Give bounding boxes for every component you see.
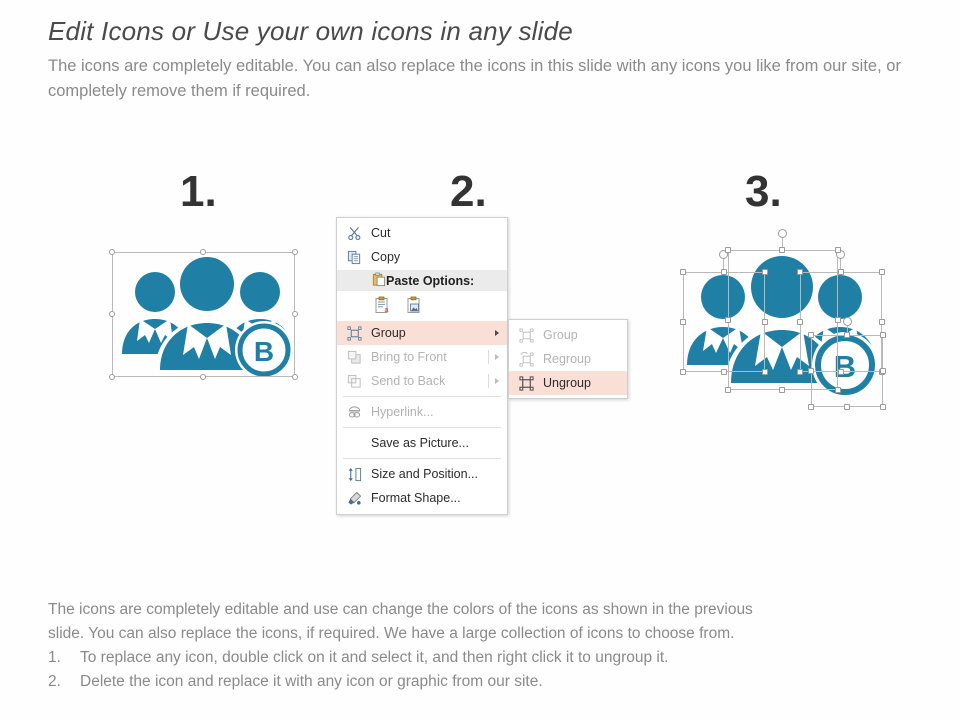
rotation-handle-badge[interactable] (843, 317, 852, 326)
menu-item-label: Send to Back (371, 374, 495, 388)
selection-handle-ne[interactable] (292, 249, 298, 255)
handle-center-e[interactable] (835, 317, 841, 323)
selection-handle-e[interactable] (292, 311, 298, 317)
handle-left-n[interactable] (721, 269, 727, 275)
group-icon (517, 326, 535, 344)
menu-separator (343, 458, 501, 459)
footer-instructions: The icons are completely editable and us… (48, 598, 938, 694)
handle-left-s[interactable] (721, 369, 727, 375)
rotation-handle-center[interactable] (778, 229, 787, 238)
menu-divider (488, 374, 489, 388)
menu-separator (343, 396, 501, 397)
menu-item-paste-options[interactable]: Paste Options: (337, 270, 507, 291)
scissors-icon (345, 224, 363, 242)
bring-to-front-icon (345, 348, 363, 366)
handle-center-n[interactable] (779, 247, 785, 253)
menu-item-label: Copy (371, 250, 507, 264)
context-menu[interactable]: Cut Copy (336, 217, 508, 515)
send-to-back-icon (345, 372, 363, 390)
menu-item-format-shape[interactable]: Format Shape... (337, 486, 507, 510)
submenu-item-label: Regroup (543, 352, 627, 366)
submenu-item-label: Group (543, 328, 627, 342)
list-item: 1. To replace any icon, double click on … (48, 646, 938, 670)
footer-list: 1. To replace any icon, double click on … (48, 646, 938, 694)
step-number-2: 2. (450, 170, 487, 214)
handle-right-nw[interactable] (797, 269, 803, 275)
handle-badge-se[interactable] (880, 404, 886, 410)
paste-options-label: Paste Options: (386, 274, 474, 288)
handle-badge-ne[interactable] (880, 332, 886, 338)
submenu-item-group[interactable]: Group (509, 323, 627, 347)
page-title: Edit Icons or Use your own icons in any … (48, 16, 573, 47)
handle-badge-sw[interactable] (808, 404, 814, 410)
handle-right-ne[interactable] (879, 269, 885, 275)
submenu-item-regroup[interactable]: Regroup (509, 347, 627, 371)
menu-item-label: Hyperlink... (371, 405, 507, 419)
handle-right-s[interactable] (838, 369, 844, 375)
handle-left-se[interactable] (762, 369, 768, 375)
list-item: 2. Delete the icon and replace it with a… (48, 670, 938, 694)
menu-divider (488, 350, 489, 364)
group-submenu[interactable]: Group Regroup (508, 319, 628, 399)
submenu-item-label: Ungroup (543, 376, 627, 390)
step-number-1: 1. (180, 170, 217, 214)
chevron-right-icon (495, 378, 499, 384)
handle-badge-w[interactable] (808, 368, 814, 374)
menu-item-label: Cut (371, 226, 507, 240)
paste-picture-icon[interactable] (405, 296, 423, 317)
paste-options-row[interactable]: a (337, 291, 507, 321)
handle-badge-n[interactable] (844, 332, 850, 338)
menu-item-label: Bring to Front (371, 350, 495, 364)
page-subtitle: The icons are completely editable. You c… (48, 54, 908, 104)
menu-item-label: Size and Position... (371, 467, 507, 481)
menu-item-cut[interactable]: Cut (337, 221, 507, 245)
handle-center-se[interactable] (835, 387, 841, 393)
paste-keep-text-icon[interactable]: a (373, 296, 391, 317)
handle-left-ne[interactable] (762, 269, 768, 275)
menu-item-size-and-position[interactable]: Size and Position... (337, 462, 507, 486)
handle-badge-nw[interactable] (808, 332, 814, 338)
panel-grouped-icon: B (100, 240, 315, 390)
handle-right-sw[interactable] (797, 369, 803, 375)
menu-item-label: Format Shape... (371, 491, 507, 505)
menu-item-hyperlink[interactable]: Hyperlink... (337, 400, 507, 424)
handle-badge-e[interactable] (880, 368, 886, 374)
regroup-icon (517, 350, 535, 368)
selection-handle-nw[interactable] (109, 249, 115, 255)
slide-canvas: Edit Icons or Use your own icons in any … (0, 0, 960, 720)
handle-left-e[interactable] (762, 319, 768, 325)
handle-center-nw[interactable] (725, 247, 731, 253)
handle-right-n[interactable] (838, 269, 844, 275)
list-item-number: 1. (48, 646, 70, 670)
paintbrush-icon (345, 489, 363, 507)
menu-item-label: Save as Picture... (371, 436, 507, 450)
handle-center-sw[interactable] (725, 387, 731, 393)
handle-right-e[interactable] (879, 319, 885, 325)
svg-text:a: a (385, 307, 389, 314)
menu-item-save-as-picture[interactable]: Save as Picture... (337, 431, 507, 455)
selection-handle-n[interactable] (200, 249, 206, 255)
selection-handle-s[interactable] (200, 374, 206, 380)
clipboard-icon (371, 272, 386, 290)
selection-frame[interactable] (112, 252, 295, 377)
menu-item-label: Group (371, 326, 495, 340)
footer-line-2: slide. You can also replace the icons, i… (48, 622, 938, 646)
menu-separator (343, 427, 501, 428)
group-icon (345, 324, 363, 342)
handle-center-w[interactable] (725, 317, 731, 323)
list-item-text: Delete the icon and replace it with any … (80, 670, 543, 694)
menu-item-send-to-back[interactable]: Send to Back (337, 369, 507, 393)
handle-left-sw[interactable] (680, 369, 686, 375)
hyperlink-icon (345, 403, 363, 421)
handle-center-s[interactable] (779, 387, 785, 393)
menu-item-bring-to-front[interactable]: Bring to Front (337, 345, 507, 369)
chevron-right-icon (495, 330, 499, 336)
ungroup-icon (517, 374, 535, 392)
submenu-item-ungroup[interactable]: Ungroup (509, 371, 627, 395)
handle-left-w[interactable] (680, 319, 686, 325)
step-number-3: 3. (745, 170, 782, 214)
selection-frame-badge[interactable] (811, 335, 883, 407)
footer-line-1: The icons are completely editable and us… (48, 598, 938, 622)
selection-handle-w[interactable] (109, 311, 115, 317)
list-item-text: To replace any icon, double click on it … (80, 646, 668, 670)
handle-left-nw[interactable] (680, 269, 686, 275)
menu-item-copy[interactable]: Copy (337, 245, 507, 269)
handle-right-w[interactable] (797, 319, 803, 325)
copy-icon (345, 248, 363, 266)
list-item-number: 2. (48, 670, 70, 694)
selection-handle-sw[interactable] (109, 374, 115, 380)
handle-badge-s[interactable] (844, 404, 850, 410)
selection-handle-se[interactable] (292, 374, 298, 380)
handle-center-ne[interactable] (835, 247, 841, 253)
menu-item-group[interactable]: Group (337, 321, 507, 345)
chevron-right-icon (495, 354, 499, 360)
size-position-icon (345, 465, 363, 483)
panel-ungrouped-icon: B (665, 225, 900, 420)
